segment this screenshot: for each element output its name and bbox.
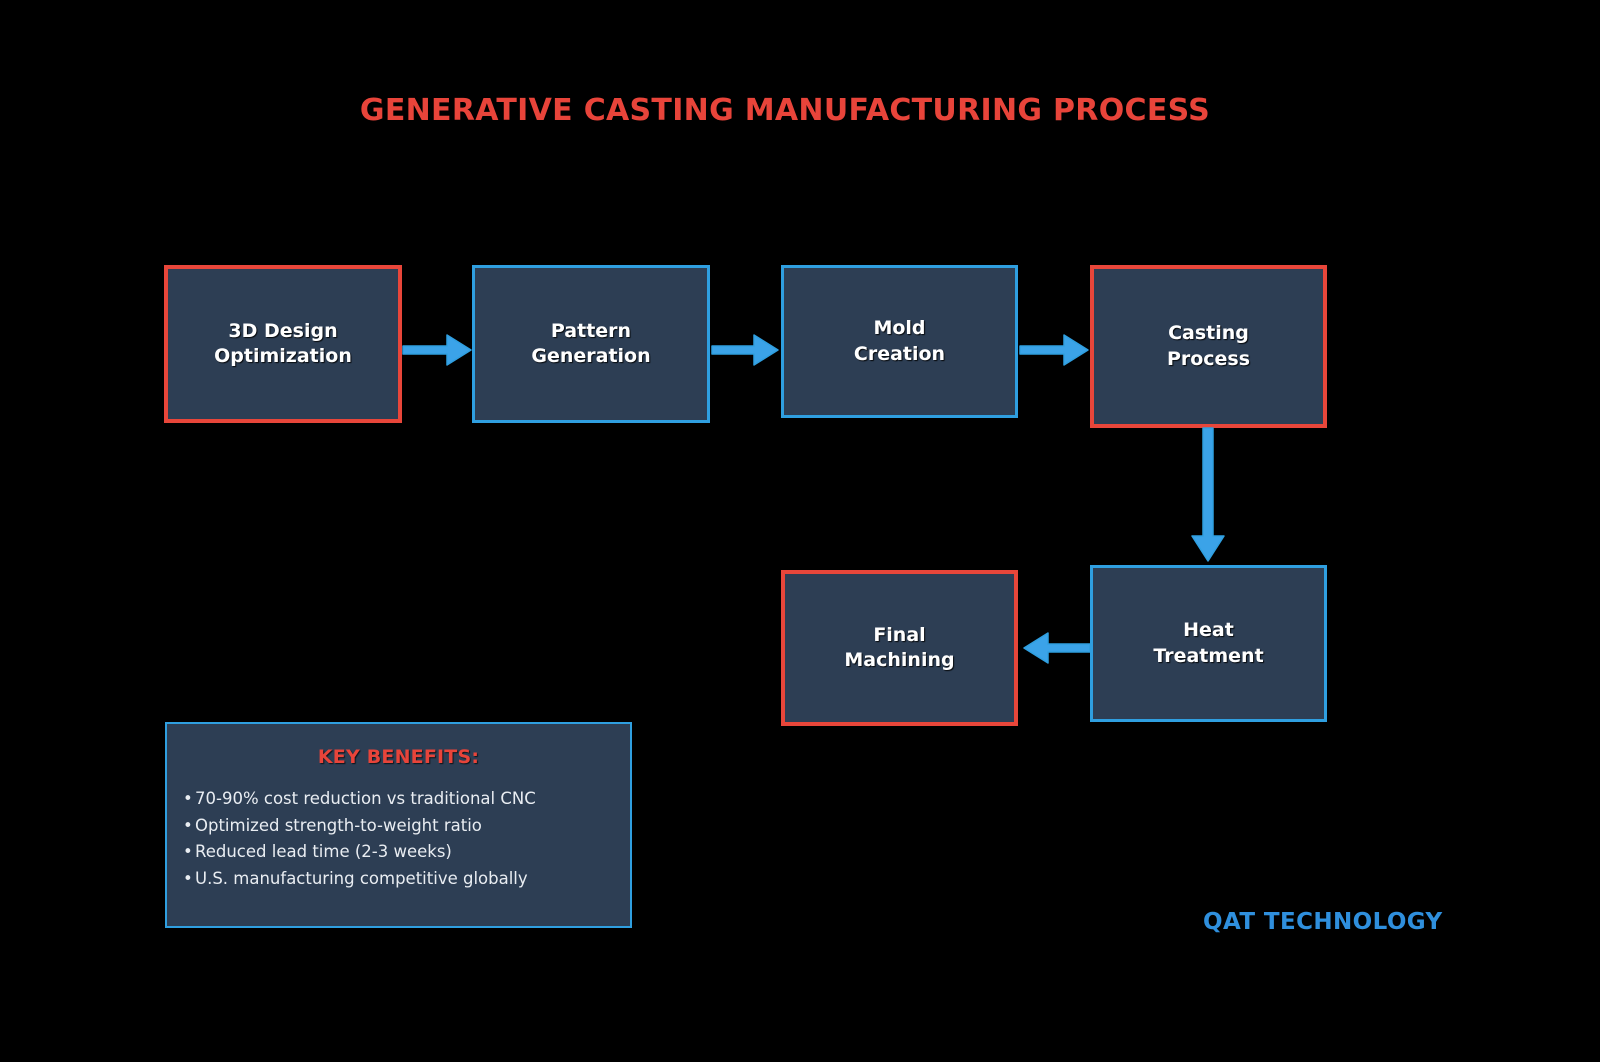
node-label: Pattern Generation <box>531 319 650 369</box>
process-node-3d-design-optimization[interactable]: 3D Design Optimization <box>164 265 402 423</box>
arrow-casting-to-heat <box>1188 428 1228 565</box>
node-label: Final Machining <box>844 623 954 673</box>
diagram-canvas: GENERATIVE CASTING MANUFACTURING PROCESS… <box>0 0 1600 1062</box>
node-label: 3D Design Optimization <box>214 319 352 369</box>
process-node-casting-process[interactable]: Casting Process <box>1090 265 1327 428</box>
watermark-label: QAT TECHNOLOGY <box>1203 909 1443 935</box>
key-benefits-panel: KEY BENEFITS: 70-90% cost reduction vs t… <box>165 722 632 928</box>
process-node-heat-treatment[interactable]: Heat Treatment <box>1090 565 1327 722</box>
node-label: Mold Creation <box>854 316 945 366</box>
arrow-mold-to-casting <box>1020 330 1092 370</box>
process-node-pattern-generation[interactable]: Pattern Generation <box>472 265 710 423</box>
list-item: Optimized strength-to-weight ratio <box>195 813 630 840</box>
arrow-design-to-pattern <box>403 330 475 370</box>
process-node-mold-creation[interactable]: Mold Creation <box>781 265 1018 418</box>
arrow-heat-to-machining <box>1022 628 1092 668</box>
page-title: GENERATIVE CASTING MANUFACTURING PROCESS <box>0 93 1570 128</box>
process-node-final-machining[interactable]: Final Machining <box>781 570 1018 726</box>
key-benefits-list: 70-90% cost reduction vs traditional CNC… <box>167 786 630 893</box>
key-benefits-heading: KEY BENEFITS: <box>167 746 630 768</box>
arrow-pattern-to-mold <box>712 330 782 370</box>
node-label: Casting Process <box>1167 321 1250 371</box>
list-item: 70-90% cost reduction vs traditional CNC <box>195 786 630 813</box>
list-item: Reduced lead time (2-3 weeks) <box>195 839 630 866</box>
list-item: U.S. manufacturing competitive globally <box>195 866 630 893</box>
node-label: Heat Treatment <box>1153 618 1263 668</box>
